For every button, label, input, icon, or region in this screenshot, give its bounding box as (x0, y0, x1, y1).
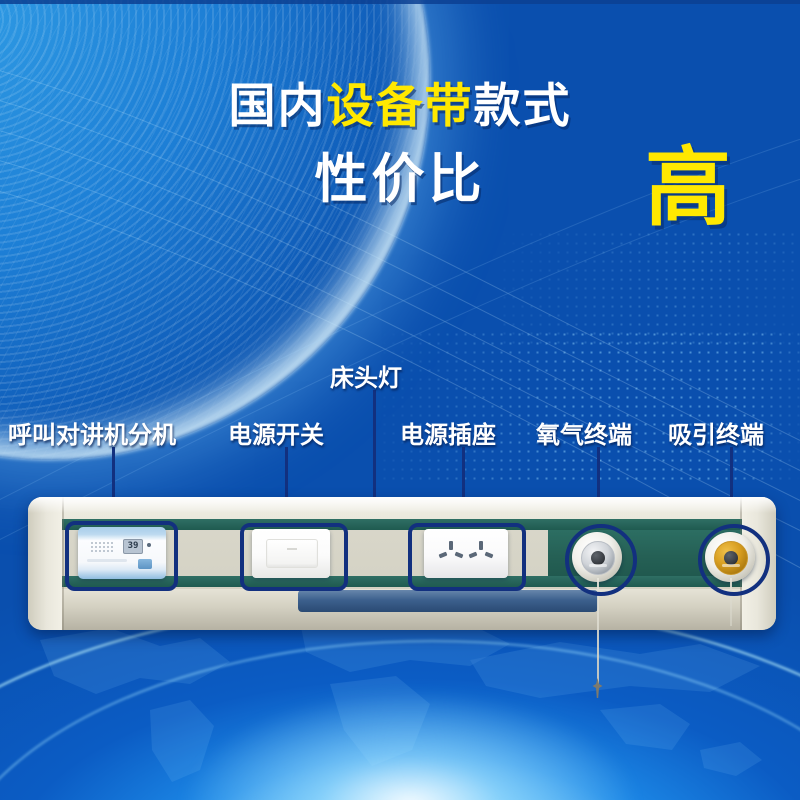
headline-part-2: 设备带 (327, 79, 474, 132)
dot-matrix-right (380, 330, 800, 480)
callout-oxygen-terminal: 氧气终端 (536, 415, 632, 450)
headline-line-1: 国内设备带款式 (0, 82, 800, 129)
headline-subline: 性价比 (315, 150, 486, 209)
callout-bed-lamp: 床头灯 (330, 358, 402, 393)
panel-seam-left (62, 497, 64, 630)
dot-matrix-right-upper (500, 230, 800, 350)
cord-handle-icon[interactable] (592, 678, 603, 698)
bed-lamp-rail (298, 590, 598, 612)
poster-canvas: 国内设备带款式 性价比 高 呼叫对讲机分机 电源开关 床头灯 电源插座 氧气终端… (0, 0, 800, 800)
top-edge-band (0, 0, 800, 4)
headline-emphasis-word: 高 (645, 145, 731, 231)
headline-part-1: 国内 (229, 79, 327, 132)
callout-intercom: 呼叫对讲机分机 (8, 415, 176, 450)
headline-part-3: 款式 (474, 79, 572, 132)
callout-power-switch: 电源开关 (228, 415, 324, 450)
callout-suction-terminal: 吸引终端 (668, 415, 764, 450)
highlight-power-switch (240, 523, 348, 591)
highlight-suction-terminal (698, 524, 770, 596)
highlight-intercom (65, 521, 178, 591)
panel-endcap-left (28, 497, 62, 630)
highlight-power-socket (408, 523, 526, 591)
callout-power-socket: 电源插座 (400, 415, 496, 450)
highlight-oxygen-terminal (565, 524, 637, 596)
bottom-glow (180, 690, 640, 800)
panel-top-highlight (28, 497, 776, 513)
